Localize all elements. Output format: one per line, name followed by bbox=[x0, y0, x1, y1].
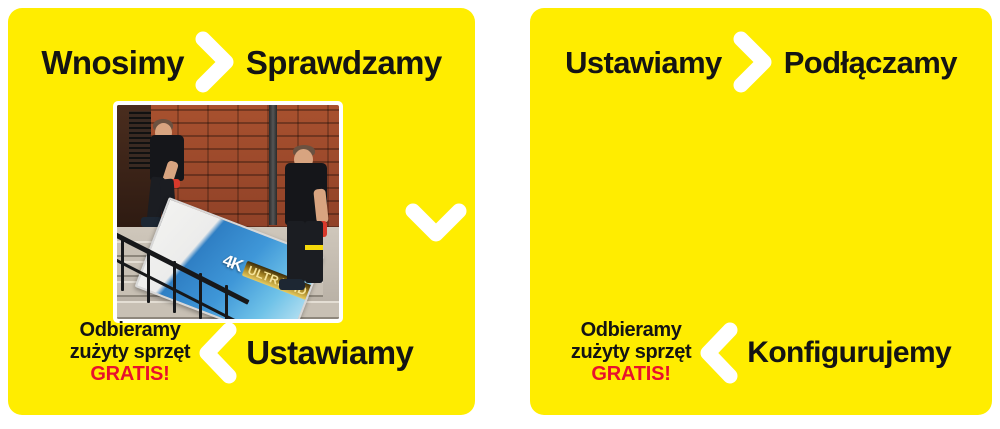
chevron-down-icon bbox=[404, 200, 468, 246]
window-grill bbox=[129, 111, 151, 169]
recycling-note-left: Odbieramy zużyty sprzęt GRATIS! bbox=[70, 320, 190, 386]
step-label-konfigurujemy: Konfigurujemy bbox=[747, 336, 951, 370]
recycle-line-2: zużyty sprzęt bbox=[571, 342, 691, 364]
step-label-ustawiamy: Ustawiamy bbox=[246, 334, 413, 372]
chevron-left-icon bbox=[697, 321, 741, 385]
recycle-line-1: Odbieramy bbox=[80, 320, 181, 342]
service-steps-panel-left: Wnosimy Sprawdzamy bbox=[8, 8, 475, 415]
recycle-gratis-badge: GRATIS! bbox=[591, 364, 670, 386]
panel-left-header: Wnosimy Sprawdzamy bbox=[8, 34, 475, 90]
drain-pipe bbox=[269, 105, 277, 225]
photo-delivery-carrying-tv: 4K ULTRA HD bbox=[113, 101, 343, 323]
recycle-gratis-badge: GRATIS! bbox=[90, 364, 169, 386]
step-label-podlaczamy: Podłączamy bbox=[784, 47, 957, 78]
recycling-note-right: Odbieramy zużyty sprzęt GRATIS! bbox=[571, 320, 691, 386]
panel-right-footer: Odbieramy zużyty sprzęt GRATIS! Konfigur… bbox=[530, 309, 992, 397]
service-steps-panel-right: Ustawiamy Podłączamy bbox=[530, 8, 992, 415]
stair-railing bbox=[117, 217, 263, 313]
chevron-left-icon bbox=[196, 321, 240, 385]
recycle-line-1: Odbieramy bbox=[581, 320, 682, 342]
chevron-right-icon bbox=[192, 31, 238, 93]
recycle-line-2: zużyty sprzęt bbox=[70, 342, 190, 364]
step-label-wnosimy: Wnosimy bbox=[41, 46, 183, 79]
chevron-right-icon bbox=[730, 31, 776, 93]
infographic-stage: Wnosimy Sprawdzamy bbox=[0, 0, 1000, 429]
panel-left-footer: Odbieramy zużyty sprzęt GRATIS! Ustawiam… bbox=[8, 309, 475, 397]
step-label-ustawiamy-2: Ustawiamy bbox=[565, 47, 722, 78]
panel-right-header: Ustawiamy Podłączamy bbox=[530, 34, 992, 90]
step-label-sprawdzamy: Sprawdzamy bbox=[246, 46, 442, 79]
